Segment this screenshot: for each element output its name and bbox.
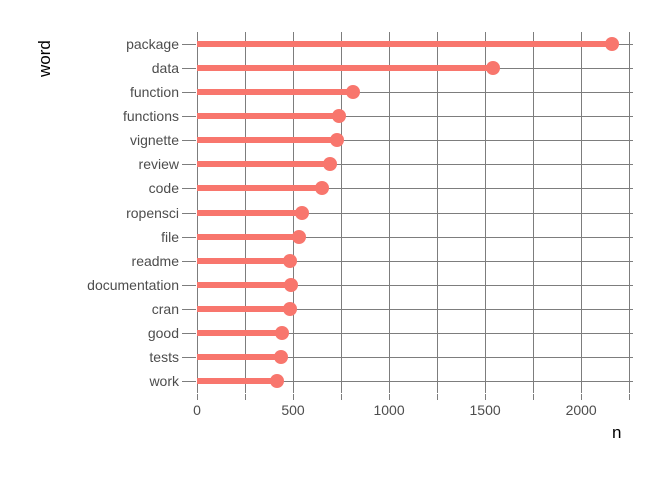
lollipop-segment bbox=[197, 354, 281, 360]
data-point bbox=[283, 254, 297, 268]
y-axis-tick-mark bbox=[182, 333, 196, 334]
lollipop-segment bbox=[197, 65, 493, 71]
x-axis-title: n bbox=[612, 423, 621, 443]
lollipop-segment bbox=[197, 234, 299, 240]
y-axis-tick-mark bbox=[182, 68, 196, 69]
y-axis-tick-label: functions bbox=[123, 108, 179, 124]
x-axis-tick-mark bbox=[389, 394, 390, 400]
x-axis-tick-mark bbox=[581, 394, 582, 400]
y-axis-tick-label: ropensci bbox=[126, 205, 179, 221]
data-point bbox=[330, 133, 344, 147]
lollipop-segment bbox=[197, 282, 291, 288]
data-point bbox=[274, 350, 288, 364]
plot-panel bbox=[197, 32, 633, 393]
y-axis-tick-label: tests bbox=[149, 349, 179, 365]
x-axis-tick-label: 500 bbox=[281, 402, 304, 418]
y-axis-tick-mark bbox=[182, 116, 196, 117]
lollipop-segment bbox=[197, 113, 339, 119]
lollipop-segment bbox=[197, 378, 277, 384]
x-axis-tick-mark-minor bbox=[245, 394, 246, 400]
y-axis-tick-label: file bbox=[161, 229, 179, 245]
data-point bbox=[346, 85, 360, 99]
data-point bbox=[284, 278, 298, 292]
y-axis-labels: packagedatafunctionfunctionsvignetterevi… bbox=[0, 0, 179, 480]
y-axis-tick-mark bbox=[182, 92, 196, 93]
y-axis-tick-mark bbox=[182, 261, 196, 262]
y-axis-tick-mark bbox=[182, 140, 196, 141]
lollipop-segment bbox=[197, 210, 302, 216]
lollipop-segment bbox=[197, 258, 290, 264]
x-axis-tick-label: 0 bbox=[193, 402, 201, 418]
y-axis-tick-mark bbox=[182, 237, 196, 238]
y-axis-tick-label: review bbox=[139, 156, 179, 172]
y-axis-tick-mark bbox=[182, 164, 196, 165]
data-point bbox=[486, 61, 500, 75]
y-axis-tick-label: documentation bbox=[87, 277, 179, 293]
lollipop-segment bbox=[197, 306, 290, 312]
y-axis-tick-mark bbox=[182, 44, 196, 45]
lollipop-segment bbox=[197, 185, 322, 191]
data-point bbox=[270, 374, 284, 388]
data-point bbox=[292, 230, 306, 244]
x-axis-tick-mark bbox=[293, 394, 294, 400]
x-axis-tick-label: 1000 bbox=[373, 402, 404, 418]
y-axis-tick-label: package bbox=[126, 36, 179, 52]
y-axis-tick-label: good bbox=[148, 325, 179, 341]
y-axis-tick-label: code bbox=[149, 180, 179, 196]
x-axis-tick-label: 2000 bbox=[566, 402, 597, 418]
data-point bbox=[295, 206, 309, 220]
lollipop-segment bbox=[197, 330, 282, 336]
y-axis-tick-label: cran bbox=[152, 301, 179, 317]
y-axis-tick-label: work bbox=[149, 373, 179, 389]
y-axis-tick-mark bbox=[182, 309, 196, 310]
data-point bbox=[323, 157, 337, 171]
y-axis-tick-label: readme bbox=[132, 253, 179, 269]
x-axis-tick-mark bbox=[485, 394, 486, 400]
lollipop-segment bbox=[197, 89, 353, 95]
x-axis-tick-mark-minor bbox=[629, 394, 630, 400]
y-axis-tick-label: function bbox=[130, 84, 179, 100]
y-axis-tick-label: vignette bbox=[130, 132, 179, 148]
y-axis-tick-mark bbox=[182, 213, 196, 214]
y-axis-tick-label: data bbox=[152, 60, 179, 76]
y-axis-tick-mark bbox=[182, 357, 196, 358]
data-point bbox=[332, 109, 346, 123]
data-point bbox=[275, 326, 289, 340]
y-axis-tick-mark bbox=[182, 381, 196, 382]
y-axis-tick-mark bbox=[182, 188, 196, 189]
lollipop-segment bbox=[197, 137, 337, 143]
x-axis-tick-label: 1500 bbox=[470, 402, 501, 418]
lollipop-segment bbox=[197, 41, 612, 47]
data-point bbox=[283, 302, 297, 316]
lollipop-segment bbox=[197, 161, 330, 167]
y-axis-tick-mark bbox=[182, 285, 196, 286]
data-point bbox=[315, 181, 329, 195]
x-axis-tick-mark-minor bbox=[437, 394, 438, 400]
x-axis-tick-mark bbox=[197, 394, 198, 400]
chart-container: word n packagedatafunctionfunctionsvigne… bbox=[0, 0, 672, 480]
data-point bbox=[605, 37, 619, 51]
x-axis-tick-mark-minor bbox=[341, 394, 342, 400]
x-axis-tick-mark-minor bbox=[533, 394, 534, 400]
